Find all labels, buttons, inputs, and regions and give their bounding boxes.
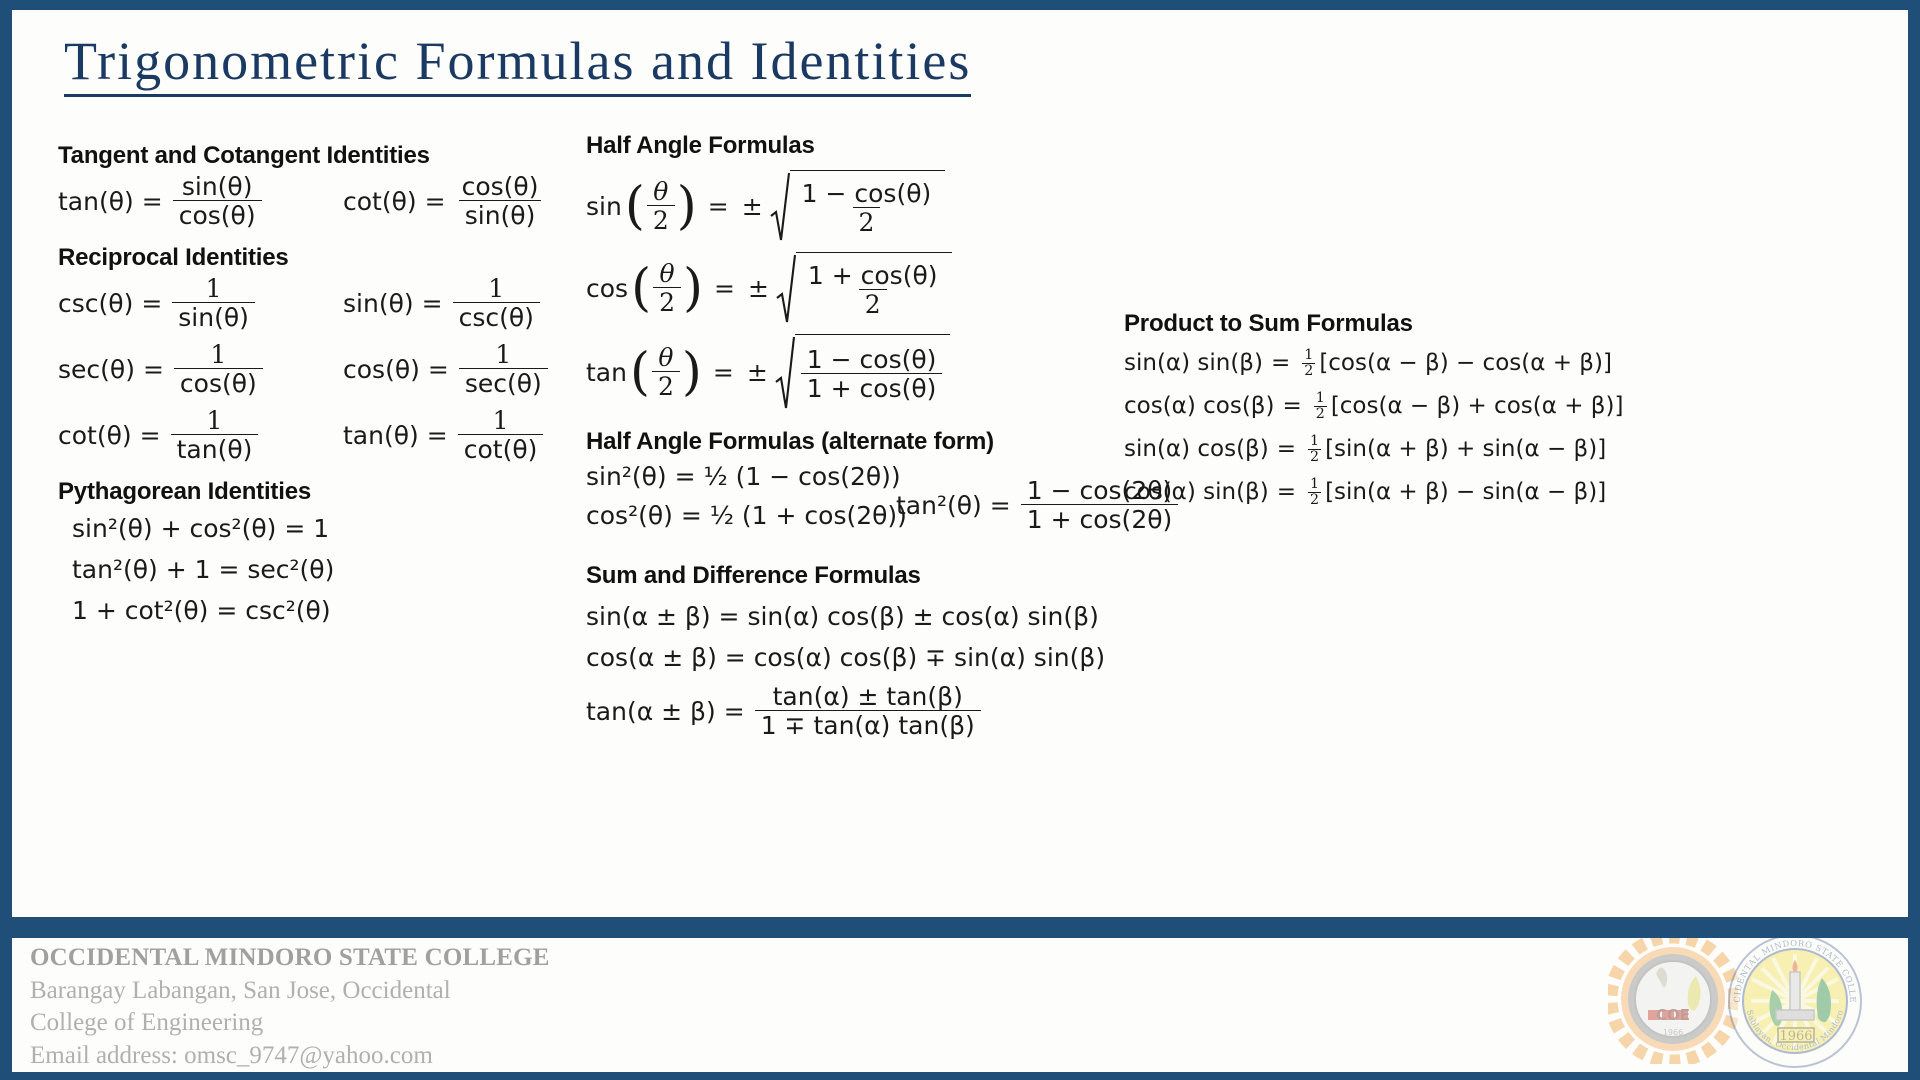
section-heading-sum-difference: Sum and Difference Formulas — [586, 562, 1106, 590]
formula-lhs: cos(θ) — [343, 357, 420, 382]
reciprocal-formula-row: cot(θ) = 1 tan(θ) tan(θ) = 1 cot(θ) — [58, 408, 578, 462]
slide-root: Trigonometric Formulas and Identities Ta… — [0, 0, 1920, 1080]
footer-band: OCCIDENTAL MINDORO STATE COLLEGE Baranga… — [0, 930, 1920, 1080]
plus-minus-sign: ± — [742, 360, 773, 385]
radical-body: 1 − cos(θ) 2 — [790, 170, 946, 242]
footer-logos: COE 1966 — [1608, 938, 1878, 1072]
formula-lhs: tan(α ± β) — [586, 699, 716, 724]
equals-sign: = — [1274, 395, 1309, 418]
fraction-one-half: 1 2 — [1302, 348, 1315, 379]
formula-rhs: [cos(α − β) − cos(α + β)] — [1319, 352, 1612, 375]
paren-group: ( θ 2 ) — [631, 261, 703, 315]
equals-sign: = — [133, 291, 170, 316]
formula-function: sin — [586, 194, 622, 219]
formula-rhs: [cos(α − β) + cos(α + β)] — [1331, 395, 1624, 418]
section-heading-reciprocal: Reciprocal Identities — [58, 244, 578, 272]
fraction-numerator: 1 — [482, 276, 510, 302]
fraction-numerator: 1 — [487, 408, 515, 434]
fraction-numerator: θ — [652, 345, 679, 371]
formula-lhs: tan²(θ) — [896, 493, 982, 518]
reciprocal-formula-row: csc(θ) = 1 sin(θ) sin(θ) = 1 csc(θ) — [58, 276, 578, 330]
formula-sum-difference-cos: cos(α ± β) = cos(α) cos(β) ∓ sin(α) sin(… — [586, 645, 1106, 670]
formula-product-to-sum-2: cos(α) cos(β) = 1 2 [cos(α − β) + cos(α … — [1124, 391, 1594, 422]
radical-sign-icon — [776, 252, 796, 324]
radical-body: 1 + cos(θ) 2 — [796, 252, 952, 324]
fraction: θ 2 — [653, 261, 681, 315]
fraction-numerator: θ — [654, 261, 681, 287]
formula-cos-reciprocal: cos(θ) = 1 sec(θ) — [343, 342, 550, 396]
fraction-denominator: 2 — [1302, 363, 1315, 379]
formula-lhs: csc(θ) — [58, 291, 133, 316]
fraction-numerator: 1 — [1308, 434, 1321, 449]
fraction-one-half: 1 2 — [1308, 434, 1321, 465]
formula-cot-lhs: cot(θ) — [343, 189, 417, 214]
section-heading-half-angle-alternate: Half Angle Formulas (alternate form) — [586, 428, 1106, 456]
omsc-seal-logo: 1966 OCCIDENTAL MINDORO STATE COLLEGE Sa… — [1726, 938, 1864, 1070]
fraction-denominator: 1 ∓ tan(α) tan(β) — [755, 710, 981, 738]
fraction-one-half: 1 2 — [1314, 391, 1327, 422]
formula-half-angle-alt-sin: sin²(θ) = ½ (1 − cos(2θ)) — [586, 464, 896, 489]
formula-function: tan — [586, 360, 627, 385]
fraction-numerator: 1 — [201, 408, 229, 434]
equals-sign: = — [420, 357, 457, 382]
equals-sign: = — [1269, 438, 1304, 461]
formula-function: cos — [586, 276, 628, 301]
radical-sign-icon — [770, 170, 790, 242]
fraction-numerator: tan(α) ± tan(β) — [767, 684, 969, 710]
fraction-denominator: cos(θ) — [173, 200, 262, 228]
fraction-denominator: sin(θ) — [459, 200, 542, 228]
equals-sign: = — [706, 276, 743, 301]
equals-sign: = — [982, 493, 1019, 518]
fraction-denominator: 2 — [1314, 406, 1327, 422]
equals-sign: = — [135, 357, 172, 382]
equals-sign: = — [414, 291, 451, 316]
formula-csc: csc(θ) = 1 sin(θ) — [58, 276, 343, 330]
coe-logo-text: COE — [1656, 1006, 1690, 1024]
paren-left: ( — [625, 186, 645, 227]
formula-sum-difference-tan: tan(α ± β) = tan(α) ± tan(β) 1 ∓ tan(α) … — [586, 684, 1106, 738]
fraction: tan(α) ± tan(β) 1 ∓ tan(α) tan(β) — [755, 684, 981, 738]
fraction: 1 + cos(θ) 2 — [802, 263, 944, 317]
fraction-numerator: 1 − cos(θ) — [796, 181, 938, 207]
paren-right: ) — [683, 268, 703, 309]
paren-left: ( — [631, 268, 651, 309]
radical-body: 1 − cos(θ) 1 + cos(θ) — [795, 334, 951, 410]
fraction-denominator: cos(θ) — [174, 368, 263, 396]
footer-text-block: OCCIDENTAL MINDORO STATE COLLEGE Baranga… — [30, 942, 550, 1072]
fraction-denominator: sec(θ) — [459, 368, 548, 396]
fraction-denominator: 2 — [653, 287, 681, 315]
formula-cot: cot(θ) = cos(θ) sin(θ) — [343, 174, 546, 228]
equals-sign: = — [134, 189, 171, 214]
fraction-numerator: 1 — [1308, 477, 1321, 492]
fraction-numerator: sin(θ) — [176, 174, 259, 200]
half-angle-alt-row: sin²(θ) = ½ (1 − cos(2θ)) cos²(θ) = ½ (1… — [586, 464, 1106, 532]
equals-sign: = — [1269, 481, 1304, 504]
footer-organization: OCCIDENTAL MINDORO STATE COLLEGE — [30, 942, 550, 975]
svg-text:1966: 1966 — [1663, 1028, 1683, 1037]
fraction: θ 2 — [652, 345, 680, 399]
column-right: Product to Sum Formulas sin(α) sin(β) = … — [1124, 310, 1594, 508]
formula-rhs: [sin(α + β) + sin(α − β)] — [1325, 438, 1606, 461]
formula-half-angle-sin: sin ( θ 2 ) = ± 1 — [586, 170, 1106, 242]
footer-address: Barangay Labangan, San Jose, Occidental — [30, 975, 550, 1008]
fraction: θ 2 — [647, 179, 675, 233]
fraction: sin(θ) cos(θ) — [173, 174, 262, 228]
formula-sec: sec(θ) = 1 cos(θ) — [58, 342, 343, 396]
formula-lhs: tan(θ) — [343, 423, 419, 448]
radical: 1 − cos(θ) 1 + cos(θ) — [775, 334, 951, 410]
formula-sin-reciprocal: sin(θ) = 1 csc(θ) — [343, 276, 542, 330]
fraction: 1 sec(θ) — [459, 342, 548, 396]
paren-left: ( — [630, 352, 650, 393]
fraction-numerator: 1 − cos(θ) — [801, 347, 943, 373]
formula-half-angle-tan: tan ( θ 2 ) = ± 1 — [586, 334, 1106, 410]
fraction: 1 − cos(θ) 1 + cos(θ) — [801, 347, 943, 401]
fraction-numerator: 1 — [1314, 391, 1327, 406]
equals-sign: = — [417, 189, 454, 214]
formula-pythagorean-3: 1 + cot²(θ) = csc²(θ) — [72, 598, 578, 623]
column-left: Tangent and Cotangent Identities tan(θ) … — [58, 142, 578, 623]
fraction-numerator: cos(θ) — [456, 174, 545, 200]
fraction-denominator: 2 — [859, 289, 887, 317]
section-heading-pythagorean: Pythagorean Identities — [58, 478, 578, 506]
fraction-denominator: csc(θ) — [453, 302, 540, 330]
reciprocal-formula-row: sec(θ) = 1 cos(θ) cos(θ) = 1 sec(θ) — [58, 342, 578, 396]
fraction-denominator: cot(θ) — [458, 434, 544, 462]
equals-sign: = — [1263, 352, 1298, 375]
fraction: 1 tan(θ) — [171, 408, 259, 462]
fraction: 1 csc(θ) — [453, 276, 540, 330]
fraction-numerator: θ — [647, 179, 674, 205]
fraction-numerator: 1 — [489, 342, 517, 368]
fraction: 1 − cos(θ) 2 — [796, 181, 938, 235]
radical-sign-icon — [775, 334, 795, 410]
fraction: cos(θ) sin(θ) — [456, 174, 545, 228]
fraction-numerator: 1 — [204, 342, 232, 368]
fraction-denominator: 2 — [1308, 492, 1321, 508]
equals-sign: = — [132, 423, 169, 448]
formula-cot-reciprocal: cot(θ) = 1 tan(θ) — [58, 408, 343, 462]
fraction-denominator: tan(θ) — [171, 434, 259, 462]
formula-lhs: sin(α) cos(β) — [1124, 438, 1269, 461]
formula-half-angle-cos: cos ( θ 2 ) = ± 1 — [586, 252, 1106, 324]
paren-group: ( θ 2 ) — [625, 179, 697, 233]
paren-group: ( θ 2 ) — [630, 345, 702, 399]
fraction: 1 cos(θ) — [174, 342, 263, 396]
fraction-denominator: 1 + cos(θ) — [801, 373, 943, 401]
formula-lhs: sin(θ) — [343, 291, 414, 316]
plus-minus-sign: ± — [743, 276, 774, 301]
section-heading-product-to-sum: Product to Sum Formulas — [1124, 310, 1594, 338]
formula-pythagorean-2: tan²(θ) + 1 = sec²(θ) — [72, 557, 578, 582]
coe-gear-logo: COE 1966 — [1608, 938, 1738, 1064]
formula-pythagorean-1: sin²(θ) + cos²(θ) = 1 — [72, 516, 578, 541]
equals-sign: = — [705, 360, 742, 385]
fraction: 1 cot(θ) — [458, 408, 544, 462]
formula-tan: tan(θ) = sin(θ) cos(θ) — [58, 174, 343, 228]
column-middle: Half Angle Formulas sin ( θ 2 ) = ± — [586, 132, 1106, 738]
radical: 1 + cos(θ) 2 — [776, 252, 952, 324]
equals-sign: = — [716, 699, 753, 724]
formula-rhs: [sin(α + β) − sin(α − β)] — [1325, 481, 1606, 504]
radical: 1 − cos(θ) 2 — [770, 170, 946, 242]
footer-department: College of Engineering — [30, 1007, 550, 1040]
paren-right: ) — [682, 352, 702, 393]
fraction-denominator: 1 + cos(2θ) — [1021, 504, 1179, 532]
formula-sum-difference-sin: sin(α ± β) = sin(α) cos(β) ± cos(α) sin(… — [586, 604, 1106, 629]
fraction: 1 sin(θ) — [172, 276, 255, 330]
fraction-denominator: sin(θ) — [172, 302, 255, 330]
formula-lhs: sec(θ) — [58, 357, 135, 382]
formula-tan-lhs: tan(θ) — [58, 189, 134, 214]
equals-sign: = — [419, 423, 456, 448]
fraction-denominator: 2 — [1308, 449, 1321, 465]
footer-email: Email address: omsc_9747@yahoo.com — [30, 1040, 550, 1073]
tangent-cotangent-formula-row: tan(θ) = sin(θ) cos(θ) cot(θ) = cos(θ) s… — [58, 174, 578, 228]
fraction-denominator: 2 — [853, 207, 881, 235]
fraction-denominator: 2 — [647, 205, 675, 233]
paren-right: ) — [677, 186, 697, 227]
formula-product-to-sum-1: sin(α) sin(β) = 1 2 [cos(α − β) − cos(α … — [1124, 348, 1594, 379]
fraction-denominator: 2 — [652, 371, 680, 399]
fraction-one-half: 1 2 — [1308, 477, 1321, 508]
formula-half-angle-alt-cos: cos²(θ) = ½ (1 + cos(2θ)) — [586, 503, 896, 528]
content-panel: Trigonometric Formulas and Identities Ta… — [12, 10, 1908, 917]
page-title: Trigonometric Formulas and Identities — [64, 30, 971, 97]
formula-product-to-sum-3: sin(α) cos(β) = 1 2 [sin(α + β) + sin(α … — [1124, 434, 1594, 465]
section-heading-half-angle: Half Angle Formulas — [586, 132, 1106, 160]
footer-panel: OCCIDENTAL MINDORO STATE COLLEGE Baranga… — [12, 938, 1908, 1072]
formula-lhs: cot(θ) — [58, 423, 132, 448]
formula-product-to-sum-4: cos(α) sin(β) = 1 2 [sin(α + β) − sin(α … — [1124, 477, 1594, 508]
fraction-numerator: 1 + cos(θ) — [802, 263, 944, 289]
plus-minus-sign: ± — [737, 194, 768, 219]
formula-lhs: cos(α) sin(β) — [1124, 481, 1269, 504]
formula-lhs: sin(α) sin(β) — [1124, 352, 1263, 375]
section-heading-tangent-cotangent: Tangent and Cotangent Identities — [58, 142, 578, 170]
formula-tan-reciprocal: tan(θ) = 1 cot(θ) — [343, 408, 545, 462]
formula-lhs: cos(α) cos(β) — [1124, 395, 1274, 418]
fraction-numerator: 1 — [200, 276, 228, 302]
equals-sign: = — [700, 194, 737, 219]
fraction-numerator: 1 — [1302, 348, 1315, 363]
